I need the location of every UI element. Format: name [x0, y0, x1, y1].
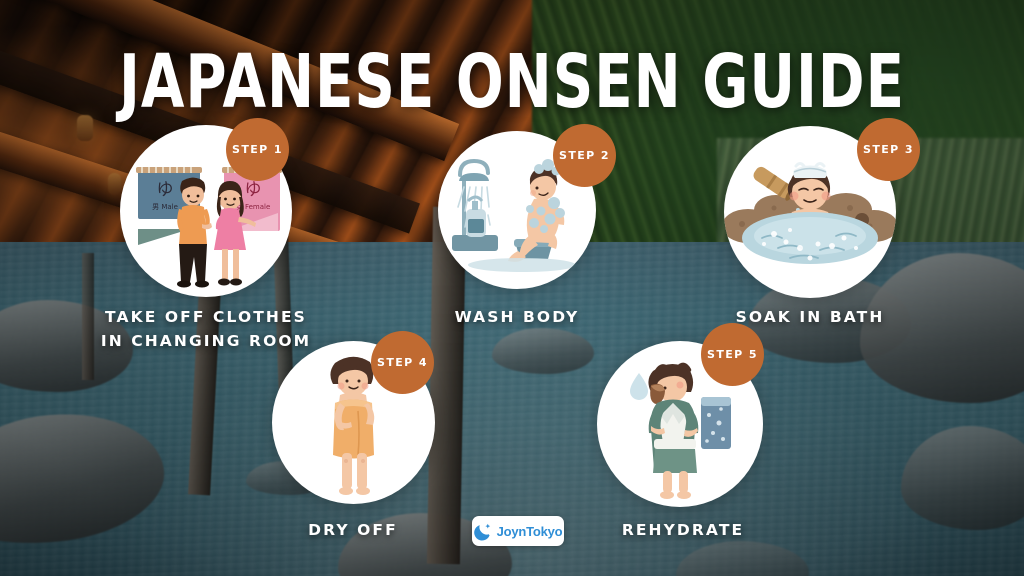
- page-title: JAPANESE ONSEN GUIDE: [15, 38, 1008, 125]
- step-5-badge: STEP 5: [701, 323, 764, 386]
- step-1-badge: STEP 1: [226, 118, 289, 181]
- joyntokyo-logo[interactable]: JoynTokyo: [472, 516, 564, 546]
- step-4-caption: DRY OFF: [233, 518, 473, 542]
- step-5-caption: REHYDRATE: [563, 518, 803, 542]
- step-2-caption: WASH BODY: [397, 305, 637, 329]
- step-1-caption: TAKE OFF CLOTHES IN CHANGING ROOM: [56, 305, 356, 353]
- svg-text:男 Male: 男 Male: [152, 203, 178, 211]
- crescent-moon-star-icon: [474, 522, 493, 541]
- logo-text: JoynTokyo: [497, 524, 563, 539]
- svg-text:ゆ: ゆ: [245, 180, 262, 200]
- step-2-badge: STEP 2: [553, 124, 616, 187]
- svg-text:ゆ: ゆ: [157, 180, 174, 200]
- step-4-badge: STEP 4: [371, 331, 434, 394]
- step-3-badge: STEP 3: [857, 118, 920, 181]
